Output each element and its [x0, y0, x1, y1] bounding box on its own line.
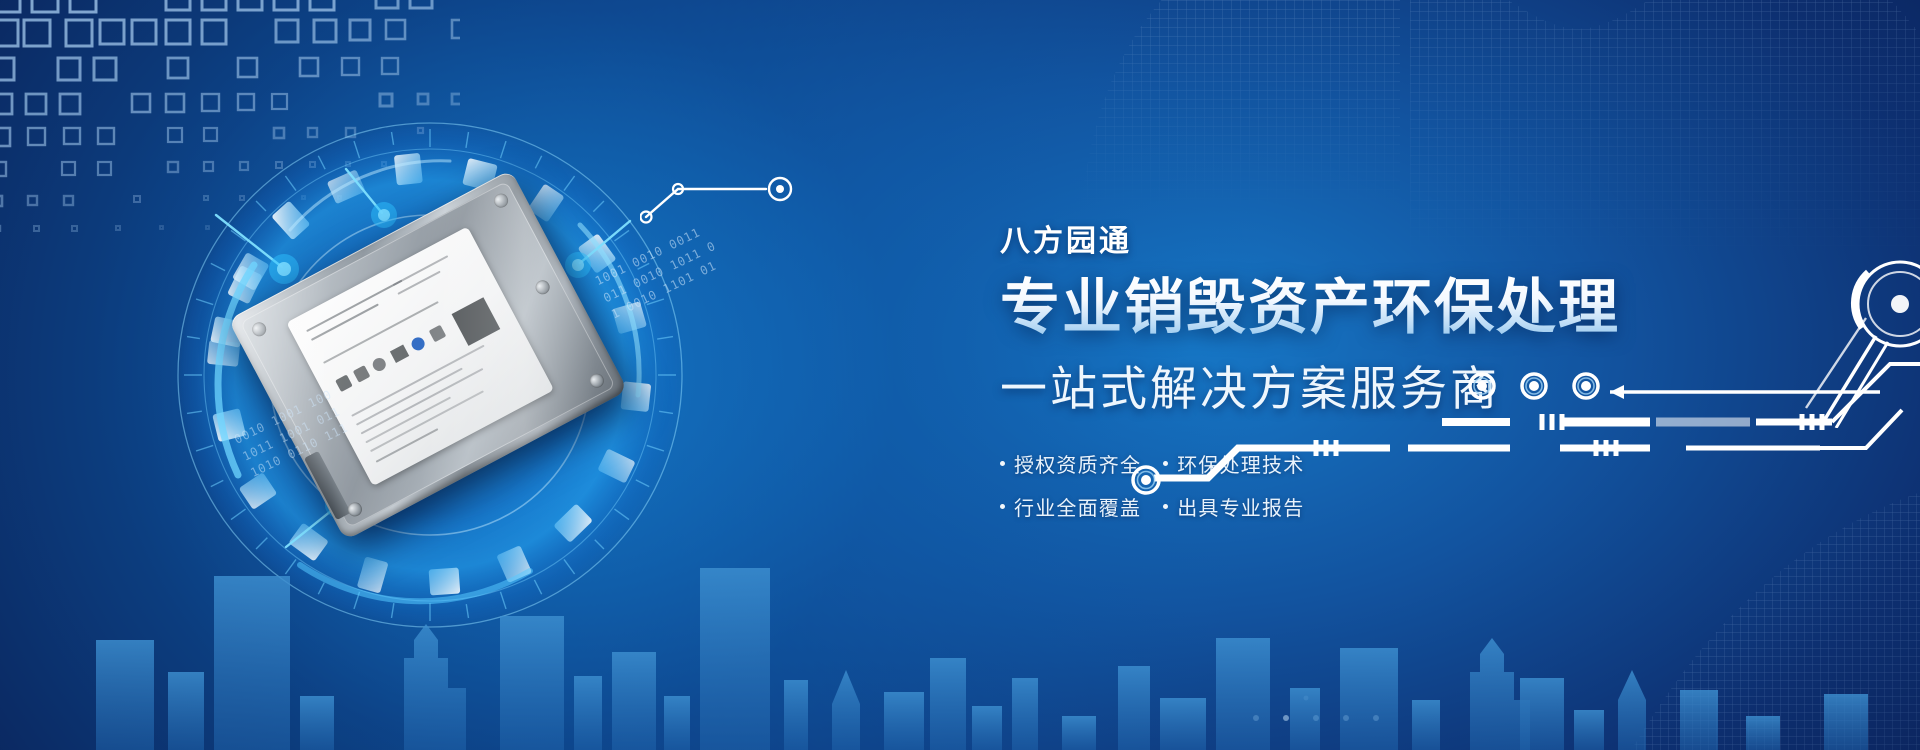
hero-banner: 1001 0010 0011 011 0010 1011 0 1 0010 11… — [0, 0, 1920, 750]
leader-line — [640, 165, 820, 225]
brand-name: 八方园通 — [1000, 216, 1700, 260]
dot-markers-bottom — [1250, 690, 1570, 730]
bullet-dot-icon — [1000, 504, 1005, 509]
hdd-hud-graphic — [150, 95, 710, 655]
mesh-wave-top-center — [880, 0, 1400, 210]
circuit-node-right-edge — [1792, 248, 1920, 428]
bullet-dot-icon — [1000, 461, 1005, 466]
